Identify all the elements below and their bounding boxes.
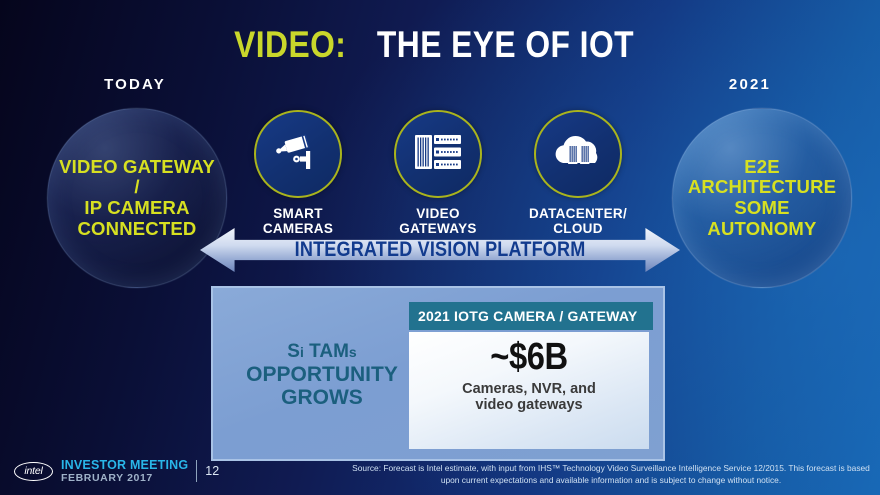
today-state-line1: VIDEO GATEWAY /	[54, 157, 220, 198]
forecast-subtitle: Cameras, NVR, and video gateways	[409, 381, 649, 413]
today-state-line2: IP CAMERA	[54, 198, 220, 219]
footer-event-name: INVESTOR MEETING	[61, 459, 188, 472]
slide-footer: intel INVESTOR MEETING FEBRUARY 2017 12	[14, 458, 219, 484]
forecast-subtitle-line1: Cameras, NVR, and	[409, 381, 649, 397]
today-state-line3: CONNECTED	[54, 219, 220, 240]
forecast-value-text: ~$6B	[490, 338, 567, 376]
forecast-card: 2021 IOTG CAMERA / GATEWAY ~$6B Cameras,…	[409, 302, 653, 447]
forecast-subtitle-line2: video gateways	[409, 397, 649, 413]
arrow-label-text: INTEGRATED VISION PLATFORM	[295, 238, 586, 262]
tam-opportunity-panel: Si TAMs OPPORTUNITY GROWS 2021 IOTG CAME…	[211, 286, 665, 461]
slide-canvas: VIDEO: THE EYE OF IOT TODAY 2021 VIDEO G…	[0, 0, 880, 495]
pillar-smart-cameras[interactable]: SMART CAMERAS	[238, 110, 358, 236]
tam-s: S	[287, 341, 300, 362]
pillar-label-line1: DATACENTER/	[518, 207, 638, 222]
page-number: 12	[205, 464, 219, 478]
integrated-vision-platform-arrow: INTEGRATED VISION PLATFORM	[200, 228, 680, 272]
page-title-rest: THE EYE OF IOT	[377, 24, 634, 66]
page-title-accent: VIDEO:	[234, 24, 346, 66]
pillar-datacenter-cloud[interactable]: DATACENTER/ CLOUD	[518, 110, 638, 236]
future-state-label: E2E ARCHITECTURE SOME AUTONOMY	[673, 157, 851, 240]
timeline-label-today: TODAY	[60, 76, 210, 93]
today-state-label: VIDEO GATEWAY / IP CAMERA CONNECTED	[48, 157, 226, 240]
footer-event-date: FEBRUARY 2017	[61, 473, 188, 484]
tam-heading: Si TAMs OPPORTUNITY GROWS	[227, 342, 417, 409]
tam-plural-s: s	[349, 344, 357, 360]
pillar-label-line1: SMART	[238, 207, 358, 222]
tam-heading-line2: OPPORTUNITY GROWS	[227, 363, 417, 409]
tam-mid: TAM	[304, 341, 349, 362]
pillar-video-gateways[interactable]: VIDEO GATEWAYS	[378, 110, 498, 236]
pillar-label-line1: VIDEO	[378, 207, 498, 222]
timeline-label-2021: 2021	[675, 76, 825, 93]
security-camera-icon	[275, 131, 321, 178]
source-note: Source: Forecast is Intel estimate, with…	[352, 462, 870, 486]
arrow-label: INTEGRATED VISION PLATFORM	[200, 228, 680, 272]
pillar-icon-wrapper	[394, 110, 482, 198]
server-rack-icon	[413, 131, 463, 178]
pillar-icon-wrapper	[534, 110, 622, 198]
future-state-line2: SOME AUTONOMY	[679, 198, 845, 239]
future-state-line1: E2E ARCHITECTURE	[679, 157, 845, 198]
future-state-circle: E2E ARCHITECTURE SOME AUTONOMY	[672, 108, 852, 288]
footer-divider	[196, 460, 197, 482]
pillar-icon-wrapper	[254, 110, 342, 198]
forecast-card-header: 2021 IOTG CAMERA / GATEWAY	[409, 302, 653, 330]
cloud-datacenter-icon	[551, 132, 605, 177]
forecast-value: ~$6B	[409, 338, 649, 376]
page-title: VIDEO: THE EYE OF IOT	[0, 24, 880, 66]
tam-heading-line1: Si TAMs	[227, 342, 417, 363]
forecast-card-body: ~$6B Cameras, NVR, and video gateways	[409, 332, 649, 449]
intel-logo: intel	[14, 462, 53, 481]
footer-event: INVESTOR MEETING FEBRUARY 2017	[61, 459, 188, 483]
